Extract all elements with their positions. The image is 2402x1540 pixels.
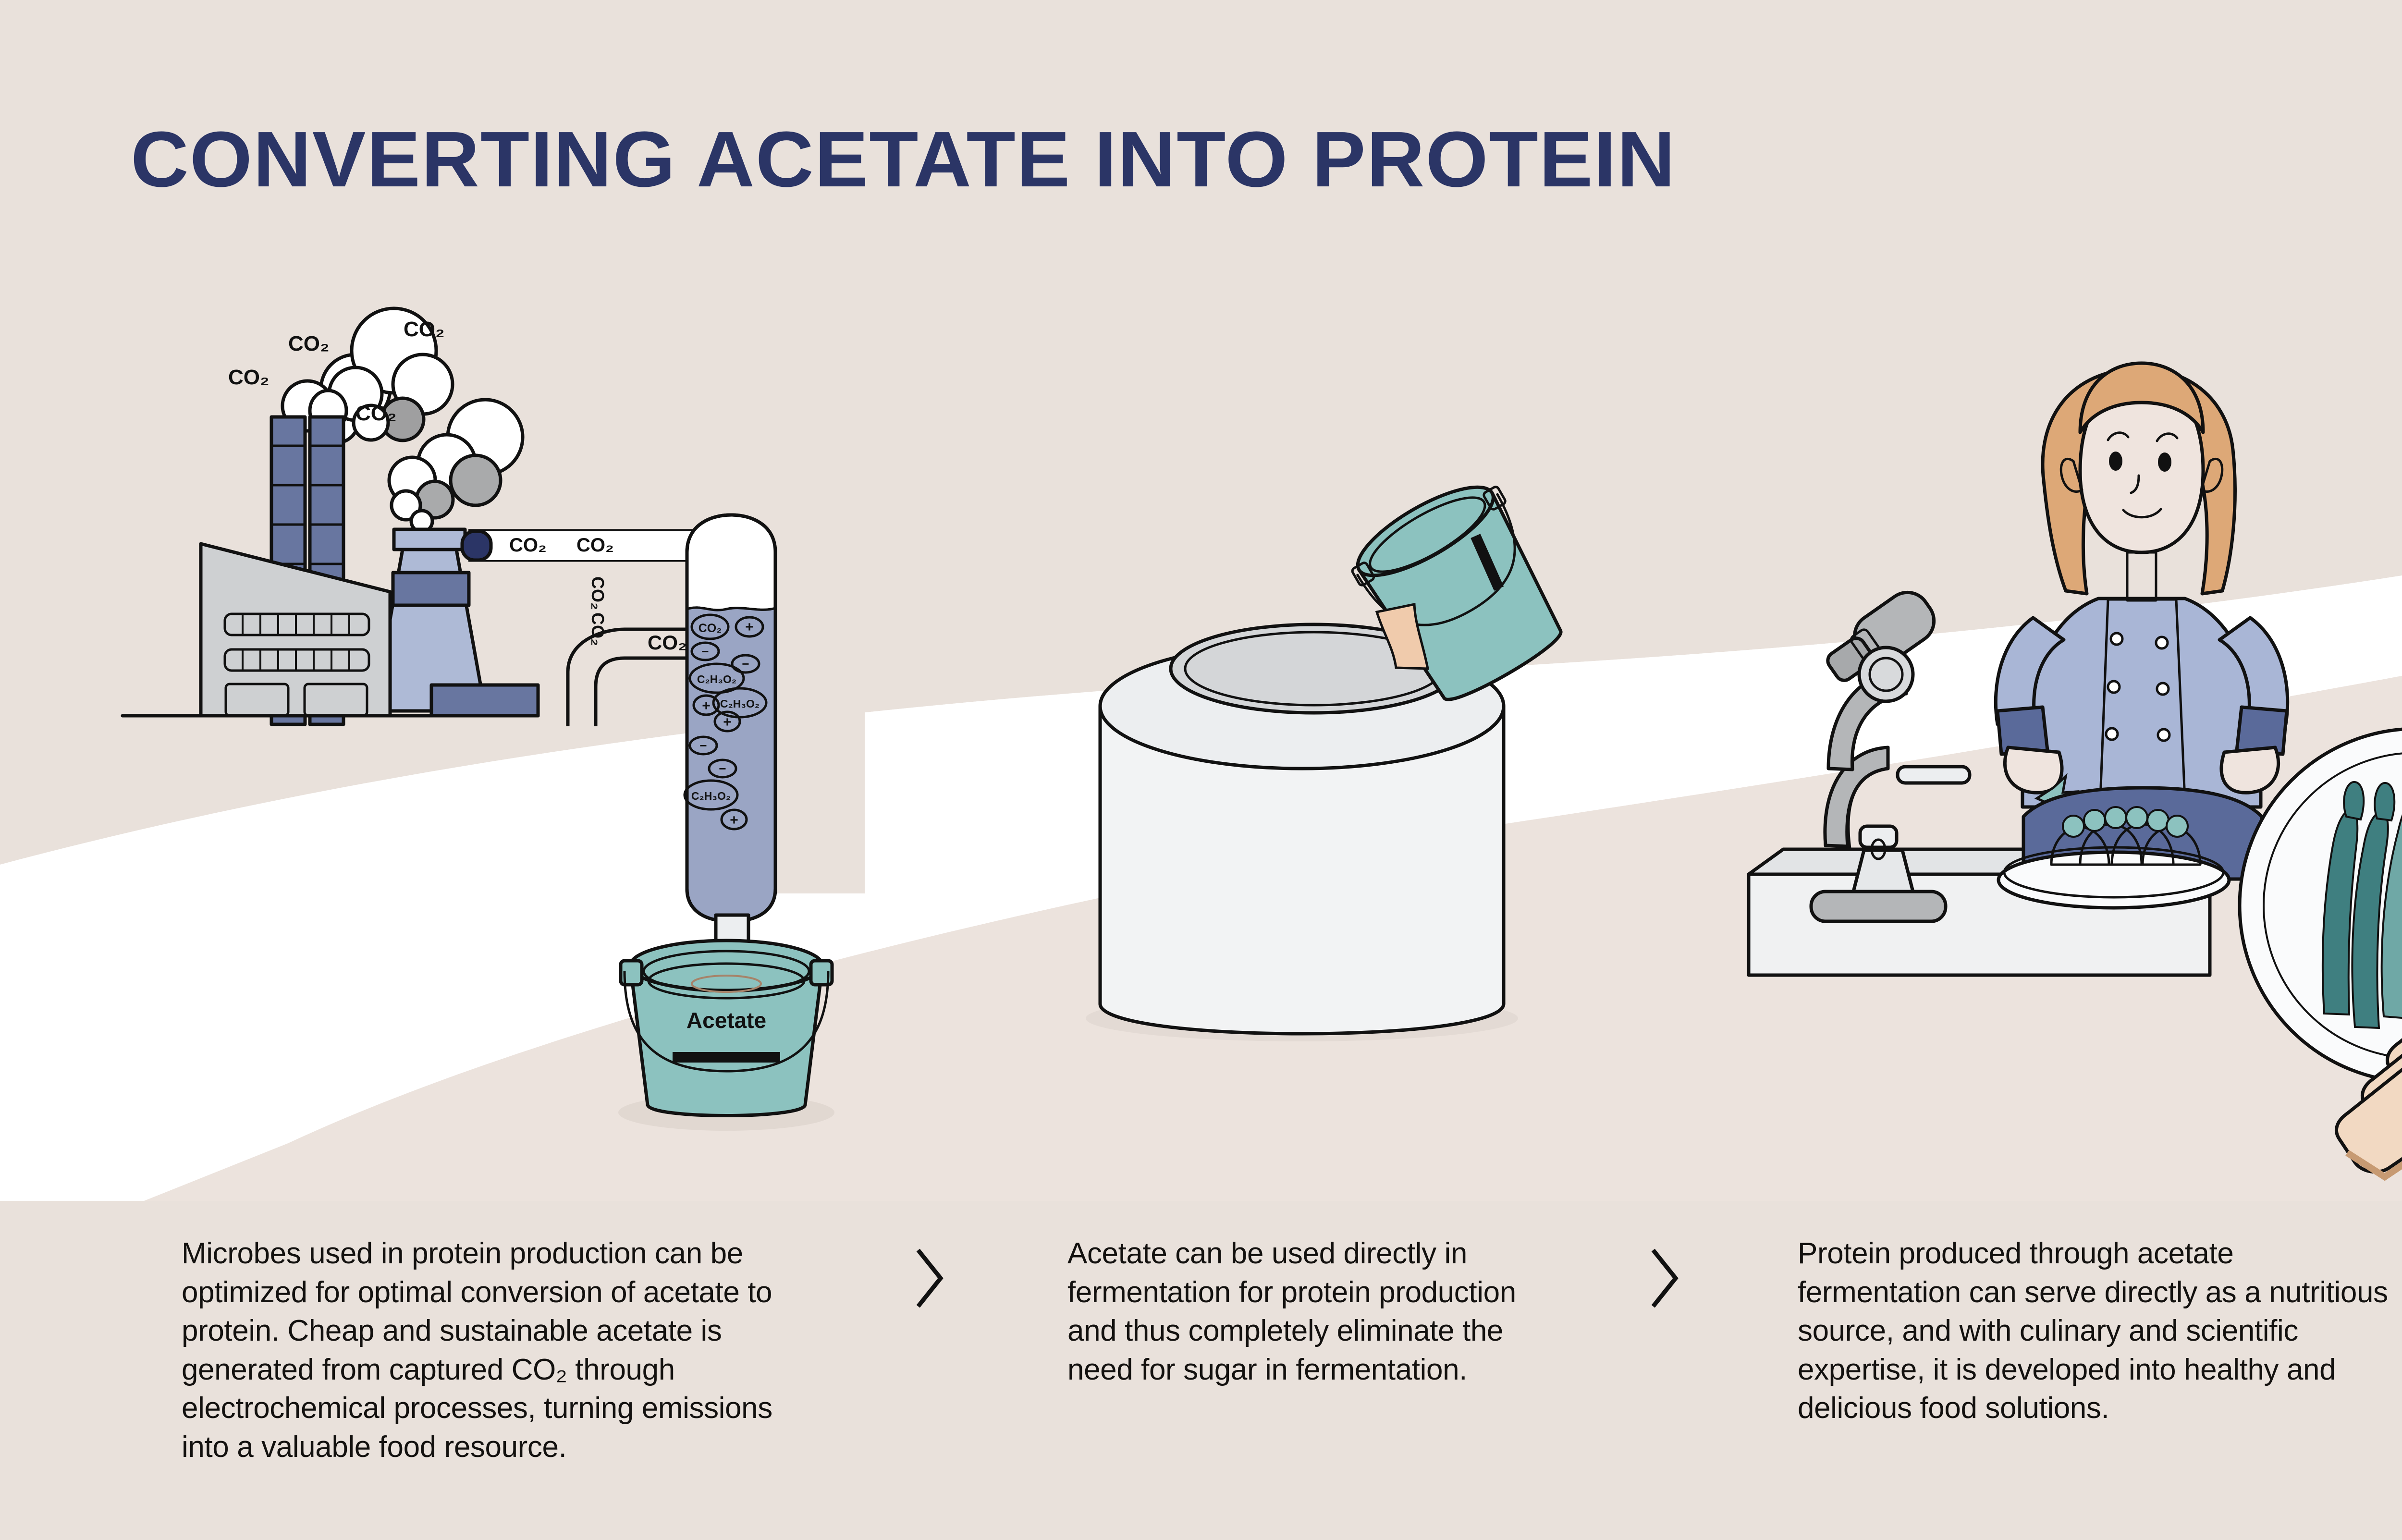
bubble-label-6: +	[702, 698, 711, 714]
chef	[1996, 363, 2287, 879]
bubble-label-8: −	[699, 738, 707, 753]
chef-hand-right	[2221, 747, 2279, 793]
chef-eye-left	[2109, 452, 2122, 471]
bubble-label-9: −	[719, 761, 726, 776]
chevron-right-icon	[913, 1247, 946, 1309]
scene-chef	[1749, 363, 2288, 975]
bubble-label-1: −	[701, 644, 709, 659]
pipe-co2-label-4: CO₂	[588, 612, 608, 646]
pipe-co2-label-2: CO₂	[576, 535, 614, 556]
factory-building	[201, 544, 538, 716]
bucket-label-bar	[673, 1052, 780, 1063]
chef-hand-left	[2005, 747, 2062, 793]
chef-eye-right	[2158, 452, 2171, 472]
bubble-label-4: −	[742, 657, 749, 671]
bubble-label-2: C₂H₃O₂	[697, 673, 736, 685]
step-caption-1: Microbes used in protein production can …	[182, 1234, 816, 1467]
scene-factory: CO₂ CO₂ CO₂ CO₂	[123, 308, 865, 1131]
co2-label-smoke-4: CO₂	[228, 366, 270, 389]
bubble-label-5: C₂H₃O₂	[720, 697, 760, 710]
scene-food-plate	[2240, 729, 2402, 1177]
pipe-co2-label-3: CO₂	[588, 576, 608, 610]
bubble-label-0: CO₂	[699, 622, 722, 635]
chef-neck	[2127, 552, 2156, 600]
co2-label-smoke-3: CO₂	[355, 402, 397, 425]
bubble-label-10: C₂H₃O₂	[691, 790, 731, 802]
bubble-label-7: +	[723, 714, 732, 730]
co2-label-smoke-1: CO₂	[288, 332, 330, 355]
acetate-bucket: Acetate	[618, 941, 834, 1131]
pipe-co2-label-1: CO₂	[509, 535, 547, 556]
bubble-label-3: +	[745, 619, 754, 635]
pipe-co2-label-5: CO₂	[648, 631, 687, 654]
chef-cuff-left	[1998, 707, 2047, 754]
step-caption-3: Protein produced through acetate ferment…	[1798, 1234, 2398, 1428]
step-caption-2: Acetate can be used directly in fermenta…	[1067, 1234, 1557, 1389]
scene-fermentation-tank	[1086, 467, 1581, 1041]
bucket-label: Acetate	[686, 1008, 766, 1033]
chevron-right-icon	[1648, 1247, 1681, 1309]
caption-row: Microbes used in protein production can …	[0, 1234, 2402, 1503]
co2-label-smoke-2: CO₂	[404, 318, 445, 341]
bubble-label-11: +	[730, 812, 738, 828]
page-title: CONVERTING ACETATE INTO PROTEIN	[131, 114, 1676, 205]
